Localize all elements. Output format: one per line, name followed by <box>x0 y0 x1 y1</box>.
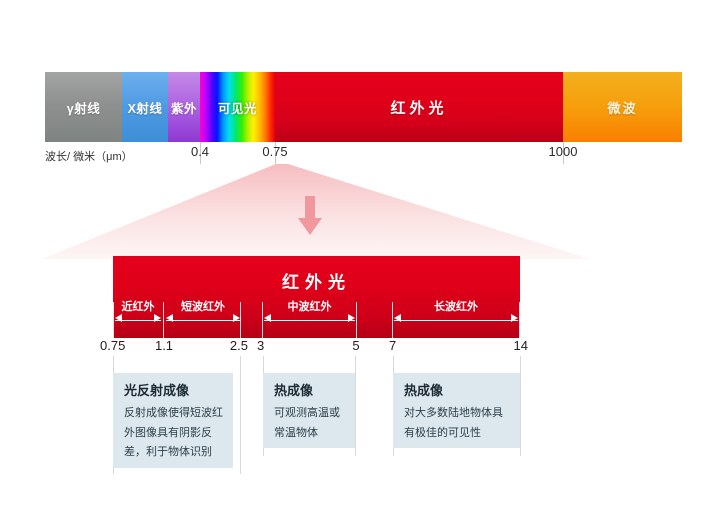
ir-band-arrow-left-icon <box>115 314 122 322</box>
ir-band-lwir: 长波红外 <box>394 300 518 334</box>
ir-band-label: 中波红外 <box>288 298 332 314</box>
infrared-detail-title: 红外光 <box>113 268 520 293</box>
ir-band-near: 近红外 <box>115 300 161 334</box>
ir-tick-label-3: 3 <box>257 338 264 353</box>
spectrum-segment-gamma: γ射线 <box>45 72 122 142</box>
spectrum-segment-label: 微波 <box>607 98 637 117</box>
spectrum-segment-visible: 可见光 <box>200 72 275 142</box>
spectrum-segment-uv: 紫外 <box>168 72 200 142</box>
ir-band-edge <box>163 302 164 338</box>
spectrum-segment-label: γ射线 <box>67 98 100 117</box>
ir-band-arrow-right-icon <box>154 314 161 322</box>
infographic-canvas: γ射线 X射线 紫外 可见光 红外光 微波 波长/ 微米（μm） 0.4 0.7… <box>0 0 721 520</box>
ir-band-line <box>264 320 355 321</box>
info-box-title: 热成像 <box>274 383 345 399</box>
axis-caption: 波长/ 微米（μm） <box>45 148 133 164</box>
down-arrow-icon <box>297 196 323 236</box>
guide-line-2-5 <box>240 356 241 474</box>
ir-band-edge <box>356 302 357 338</box>
ir-band-swir: 短波红外 <box>166 300 240 334</box>
spectrum-segment-label: X射线 <box>128 98 163 117</box>
ir-band-arrow-left-icon <box>394 314 401 322</box>
spectrum-segment-infrared: 红外光 <box>275 72 563 142</box>
ir-band-arrow-left-icon <box>166 314 173 322</box>
ir-band-edge <box>519 302 520 338</box>
axis-tick-label-1000: 1000 <box>549 144 578 159</box>
ir-tick-label-14: 14 <box>514 338 528 353</box>
ir-tick-label-1-1: 1.1 <box>155 338 173 353</box>
ir-tick-label-5: 5 <box>352 338 359 353</box>
spectrum-segment-microwave: 微波 <box>563 72 682 142</box>
ir-band-arrow-right-icon <box>511 314 518 322</box>
info-box-mwir: 热成像 可观测高温或常温物体 <box>263 373 355 448</box>
ir-band-edge <box>240 302 241 338</box>
ir-band-arrow-right-icon <box>348 314 355 322</box>
info-box-swir: 光反射成像 反射成像使得短波红外图像具有阴影反差，利于物体识别 <box>113 373 233 468</box>
ir-tick-label-7: 7 <box>389 338 396 353</box>
info-box-lwir: 热成像 对大多数陆地物体具有极佳的可见性 <box>393 373 520 448</box>
ir-band-arrow-right-icon <box>233 314 240 322</box>
ir-tick-label-2-5: 2.5 <box>230 338 248 353</box>
ir-band-line <box>166 320 240 321</box>
info-box-body: 反射成像使得短波红外图像具有阴影反差，利于物体识别 <box>124 404 223 462</box>
guide-line-5 <box>355 356 356 456</box>
info-box-body: 可观测高温或常温物体 <box>274 404 345 443</box>
info-box-title: 热成像 <box>404 383 510 399</box>
ir-band-mwir: 中波红外 <box>264 300 355 334</box>
electromagnetic-spectrum-bar: γ射线 X射线 紫外 可见光 红外光 微波 <box>45 72 682 142</box>
wavelength-axis-top: 波长/ 微米（μm） 0.4 0.75 1000 <box>45 142 682 172</box>
info-box-body: 对大多数陆地物体具有极佳的可见性 <box>404 404 510 443</box>
ir-band-edge <box>392 302 393 338</box>
ir-tick-label-0-75: 0.75 <box>100 338 125 353</box>
wavelength-axis-bottom: 0.75 1.1 2.5 3 5 7 14 <box>0 338 721 356</box>
axis-tick-label-0-4: 0.4 <box>191 144 209 159</box>
spectrum-segment-label: 可见光 <box>218 98 257 117</box>
infrared-detail-bar: 红外光 近红外 短波红外 中波红外 长波红外 <box>113 256 520 338</box>
zoom-funnel-shape <box>0 164 721 264</box>
spectrum-segment-xray: X射线 <box>122 72 168 142</box>
ir-band-label: 长波红外 <box>434 298 478 314</box>
ir-band-edge <box>262 302 263 338</box>
axis-tick-label-0-75: 0.75 <box>262 144 287 159</box>
info-box-title: 光反射成像 <box>124 383 223 399</box>
ir-band-label: 近红外 <box>122 298 155 314</box>
ir-band-line <box>394 320 518 321</box>
ir-band-edge <box>113 302 114 338</box>
spectrum-segment-label: 红外光 <box>390 97 447 118</box>
spectrum-segment-label: 紫外 <box>171 98 197 117</box>
guide-line-14 <box>520 356 521 456</box>
ir-band-label: 短波红外 <box>181 298 225 314</box>
ir-band-arrow-left-icon <box>264 314 271 322</box>
